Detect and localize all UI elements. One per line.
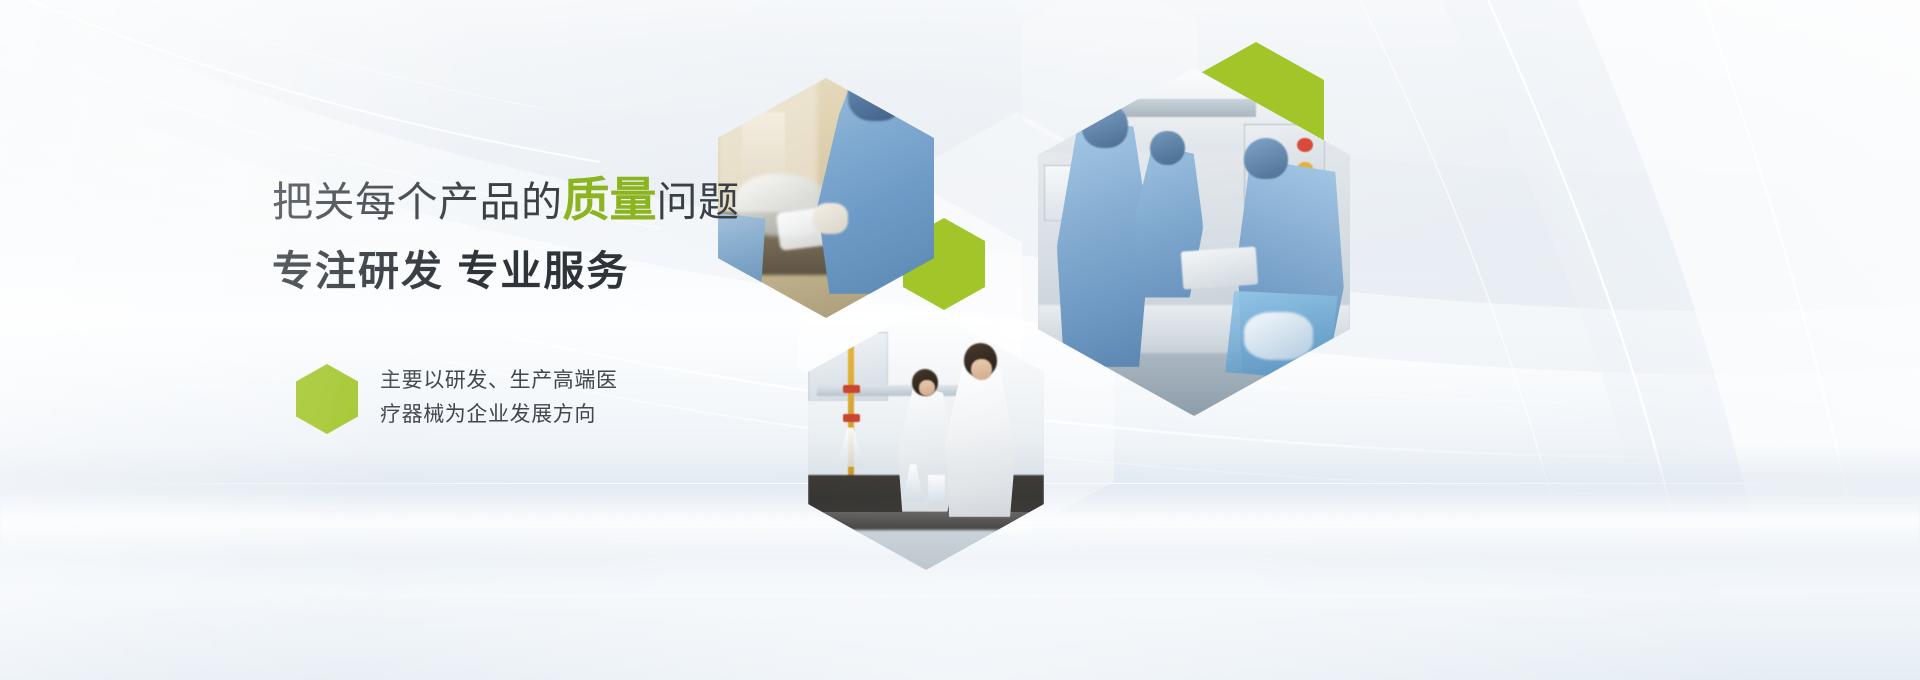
hero-copy: 把关每个产品的质量问题 专注研发 专业服务 (272, 176, 832, 292)
hexagon-cluster (690, 0, 1920, 680)
headline-secondary: 专注研发 专业服务 (272, 251, 832, 292)
headline-accent: 质量 (563, 173, 657, 226)
hero-description: 主要以研发、生产高端医 疗器械为企业发展方向 (380, 358, 618, 432)
hero-banner: 把关每个产品的质量问题 专注研发 专业服务 主要以研发、生产高端医 疗器械为企业… (0, 0, 1920, 680)
headline-prefix: 把关每个产品的 (272, 179, 563, 225)
hexagon-bullet-icon (296, 364, 358, 434)
headline-suffix: 问题 (657, 179, 740, 225)
headline-primary: 把关每个产品的质量问题 (272, 176, 832, 223)
hero-description-row: 主要以研发、生产高端医 疗器械为企业发展方向 (296, 358, 618, 434)
